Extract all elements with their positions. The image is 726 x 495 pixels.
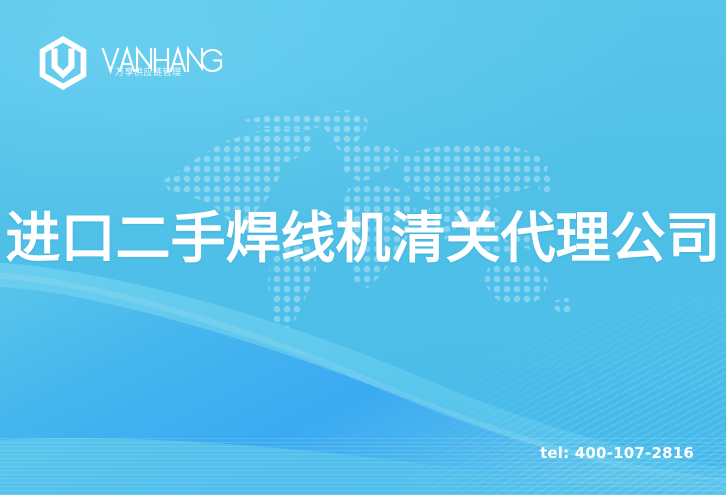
page-title: 进口二手焊线机清关代理公司 — [0, 211, 726, 266]
vanhang-hexagon-logo-icon — [34, 34, 92, 92]
logo-wordmark-group: 万享供应链管理 — [101, 39, 223, 87]
brand-logo[interactable]: 万享供应链管理 — [34, 33, 223, 93]
logo-subtitle-cn: 万享供应链管理 — [115, 65, 182, 78]
contact-phone[interactable]: tel: 400-107-2816 — [540, 444, 694, 462]
promo-banner: 万享供应链管理 进口二手焊线机清关代理公司 tel: 400-107-2816 — [0, 0, 726, 495]
